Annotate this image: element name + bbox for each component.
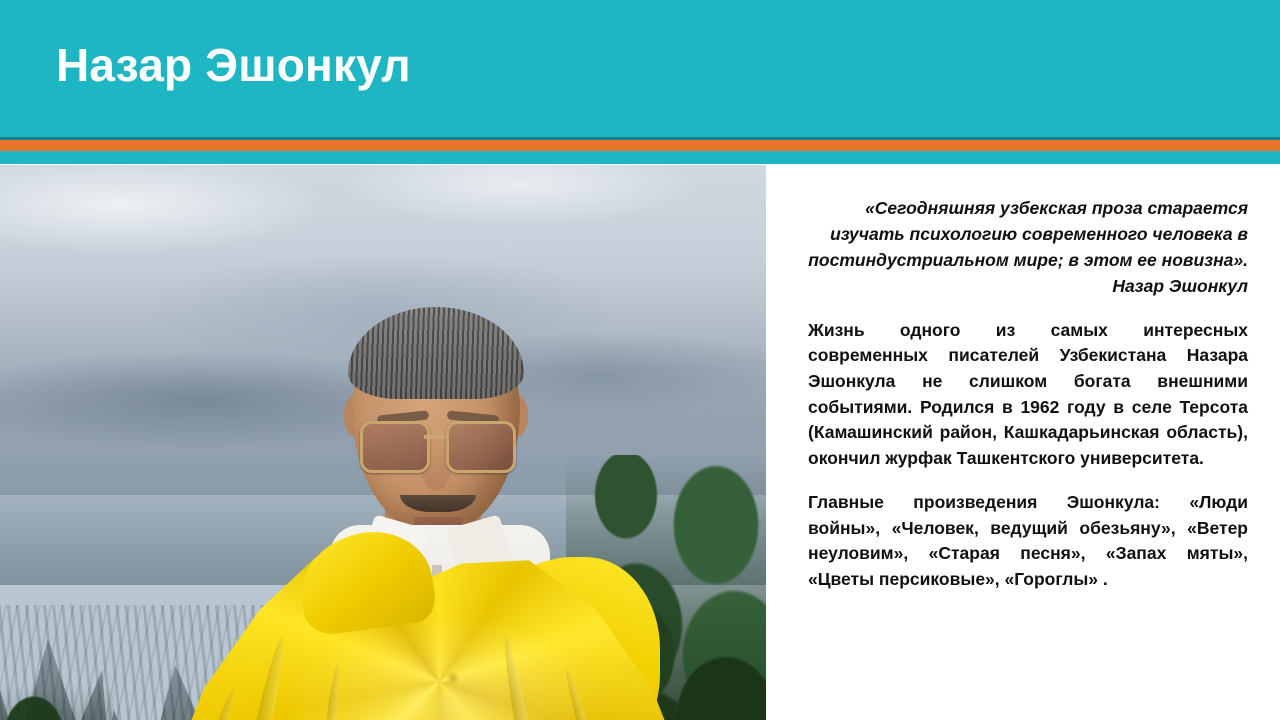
presentation-slide: Назар Эшонкул <box>0 0 1280 720</box>
eyeglass-bridge <box>424 435 448 439</box>
eyeglass-lens-right <box>446 421 516 473</box>
biography-paragraph: Жизнь одного из самых интересных совреме… <box>808 318 1248 472</box>
divider-orange-bar <box>0 140 1280 151</box>
mouth <box>414 517 462 525</box>
portrait-photo <box>0 165 766 720</box>
divider-teal-bar <box>0 151 1280 164</box>
page-title: Назар Эшонкул <box>56 40 411 91</box>
photo-scene <box>0 165 766 720</box>
person-figure <box>0 165 766 720</box>
text-column: «Сегодняшняя узбекская проза старается и… <box>808 196 1248 593</box>
pull-quote: «Сегодняшняя узбекская проза старается и… <box>808 196 1248 300</box>
poncho-center-gather <box>446 671 460 685</box>
hair <box>348 307 524 399</box>
works-paragraph: Главные произведения Эшонкула: «Люди вой… <box>808 490 1248 593</box>
eyeglass-lens-left <box>360 421 430 473</box>
eyeglasses <box>360 421 516 469</box>
